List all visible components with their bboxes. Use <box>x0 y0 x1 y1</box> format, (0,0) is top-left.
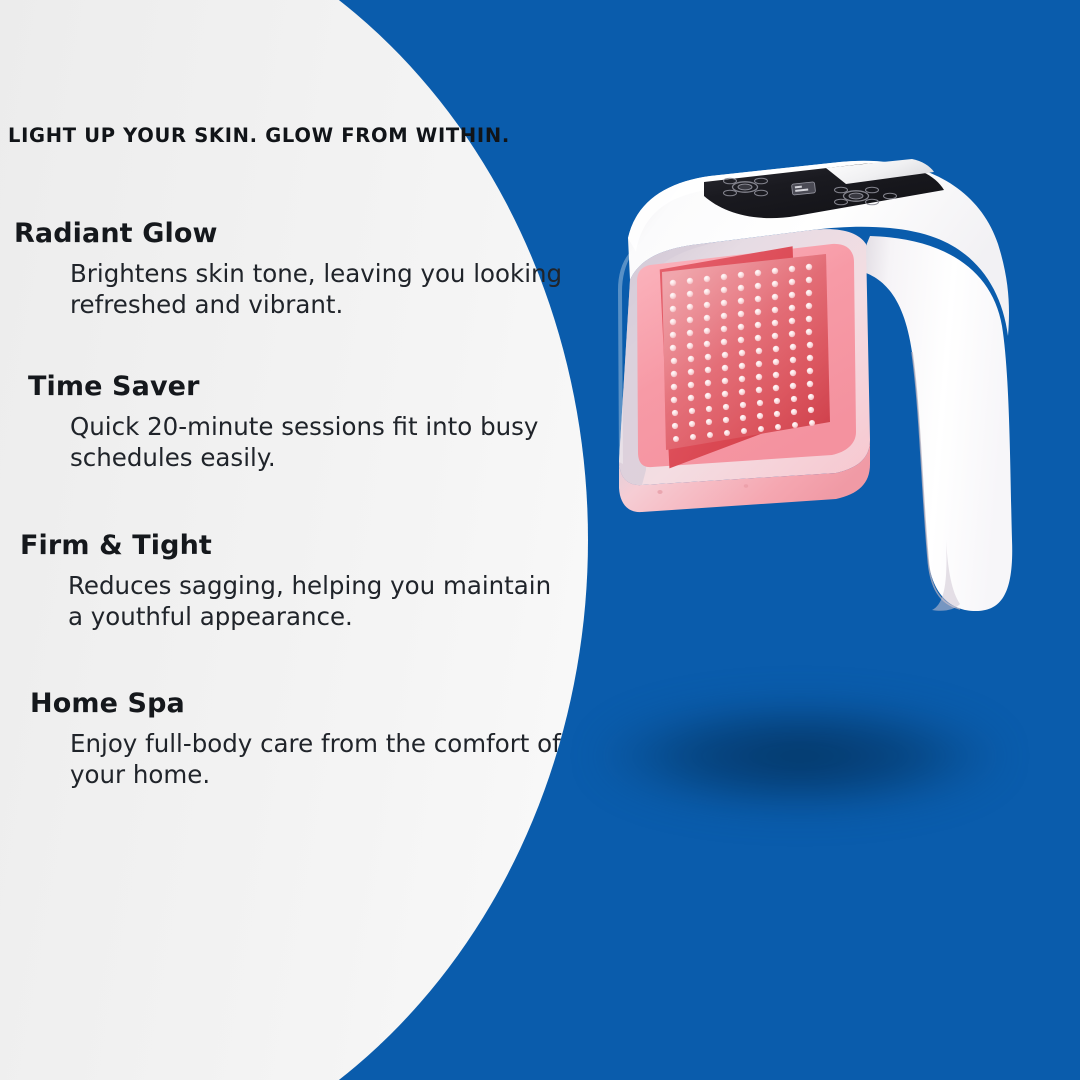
feature-block-firm-and-tight: Firm & Tight Reduces sagging, helping yo… <box>0 530 580 633</box>
product-image <box>540 140 1040 640</box>
feature-body: Brightens skin tone, leaving you looking… <box>70 258 570 321</box>
feature-title: Firm & Tight <box>20 530 580 561</box>
feature-title: Home Spa <box>30 688 580 719</box>
feature-block-home-spa: Home Spa Enjoy full-body care from the c… <box>0 688 580 791</box>
feature-block-radiant-glow: Radiant Glow Brightens skin tone, leavin… <box>0 218 580 321</box>
product-drop-shadow <box>600 700 1000 812</box>
eyebrow-headline: LIGHT UP YOUR SKIN. GLOW FROM WITHIN. <box>8 124 510 147</box>
feature-title: Time Saver <box>28 371 580 402</box>
mode-indicator <box>792 182 816 195</box>
feature-body: Quick 20-minute sessions fit into busy s… <box>70 411 570 474</box>
feature-title: Radiant Glow <box>14 218 580 249</box>
device-front-panel <box>619 229 870 512</box>
text-column: LIGHT UP YOUR SKIN. GLOW FROM WITHIN. Ra… <box>0 0 580 1080</box>
feature-block-time-saver: Time Saver Quick 20-minute sessions fit … <box>0 371 580 474</box>
device-right-leg <box>856 236 1012 611</box>
feature-body: Reduces sagging, helping you maintain a … <box>68 570 568 633</box>
feature-body: Enjoy full-body care from the comfort of… <box>70 728 570 791</box>
product-feature-poster: LIGHT UP YOUR SKIN. GLOW FROM WITHIN. Ra… <box>0 0 1080 1080</box>
